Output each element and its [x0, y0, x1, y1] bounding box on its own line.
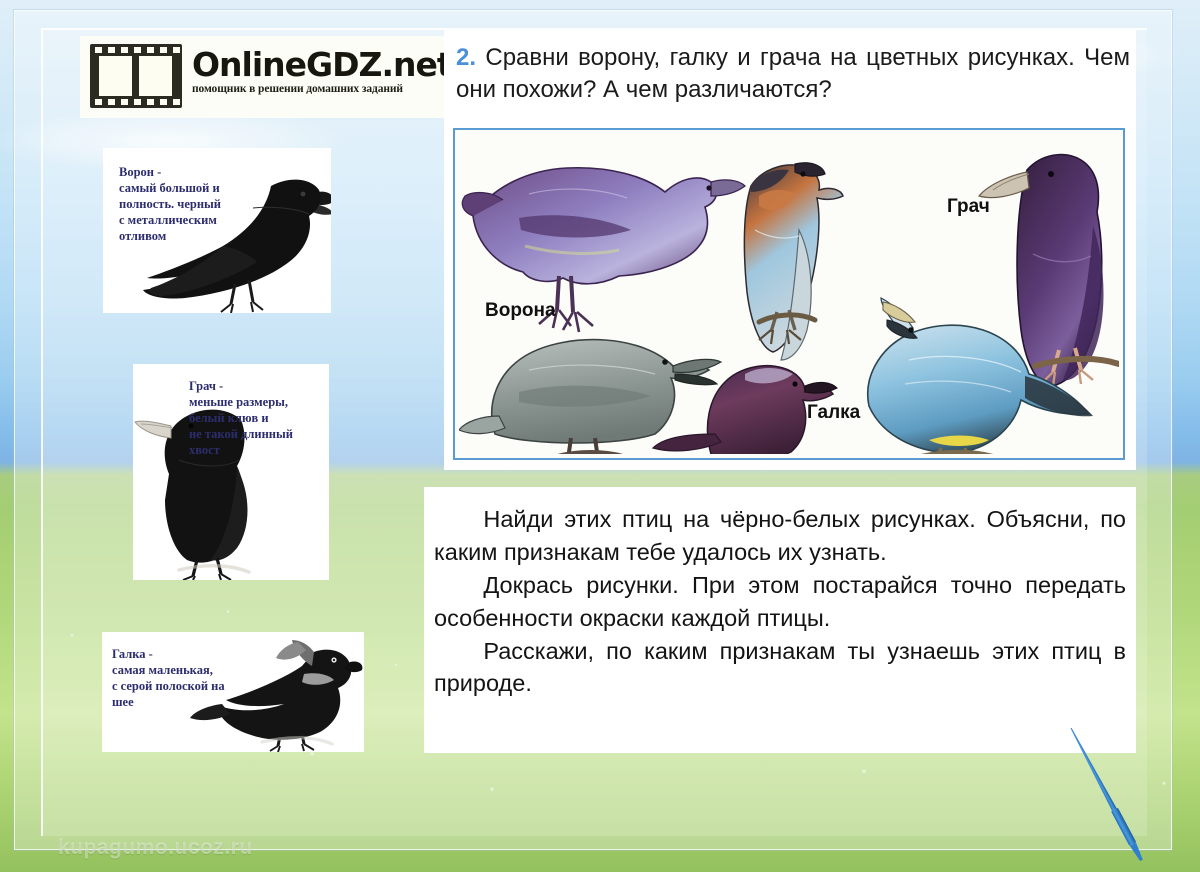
- task-question: Сравни ворону, галку и грача на цветных …: [456, 44, 1130, 103]
- logo-card: OnlineGDZ.net помощник в решении домашни…: [80, 36, 444, 118]
- logo-tagline: помощник в решении домашних заданий: [192, 83, 452, 95]
- plate-label-vorona: Ворона: [485, 300, 556, 322]
- task-number: 2.: [456, 44, 476, 71]
- annotation-raven: Ворон - самый большой и полность. черный…: [119, 164, 237, 244]
- photo-card-jackdaw: Галка - самая маленькая, с серой полоско…: [102, 632, 364, 752]
- task-text-block: 2. Сравни ворону, галку и грача на цветн…: [456, 42, 1130, 105]
- annotation-rook: Грач - меньше размеры, белый клюв и не т…: [189, 378, 319, 458]
- bird-jackdaw-perched: [744, 163, 843, 360]
- task-card: 2. Сравни ворону, галку и грача на цветн…: [444, 30, 1136, 122]
- bird-plate-canvas: Грач Ворона Галка: [459, 134, 1119, 454]
- body-paragraph-1: Найди этих птиц на чёрно-белых рисунках.…: [434, 503, 1126, 569]
- photo-card-rook: Грач - меньше размеры, белый клюв и не т…: [133, 364, 329, 580]
- plate-label-galka: Галка: [807, 402, 860, 424]
- body-paragraph-3: Расскажи, по каким признакам ты узнаешь …: [434, 635, 1126, 701]
- plate-label-grach: Грач: [947, 196, 990, 218]
- body-paragraph-2: Докрась рисунки. При этом постарайся точ…: [434, 569, 1126, 635]
- photo-card-raven: Ворон - самый большой и полность. черный…: [103, 148, 331, 313]
- filmstrip-icon: [90, 44, 182, 108]
- annotation-jackdaw: Галка - самая маленькая, с серой полоско…: [112, 646, 262, 710]
- bird-plate: Грач Ворона Галка: [453, 128, 1125, 460]
- logo-wordmark: OnlineGDZ.net: [192, 48, 452, 81]
- watermark-text: kupagumo.ucoz.ru: [58, 836, 253, 860]
- body-text-card: Найди этих птиц на чёрно-белых рисунках.…: [424, 487, 1136, 753]
- body-text-block: Найди этих птиц на чёрно-белых рисунках.…: [434, 503, 1126, 700]
- bird-plate-card: Грач Ворона Галка: [444, 118, 1136, 470]
- bird-illustrations: [459, 134, 1119, 454]
- logo[interactable]: OnlineGDZ.net помощник в решении домашни…: [90, 44, 452, 108]
